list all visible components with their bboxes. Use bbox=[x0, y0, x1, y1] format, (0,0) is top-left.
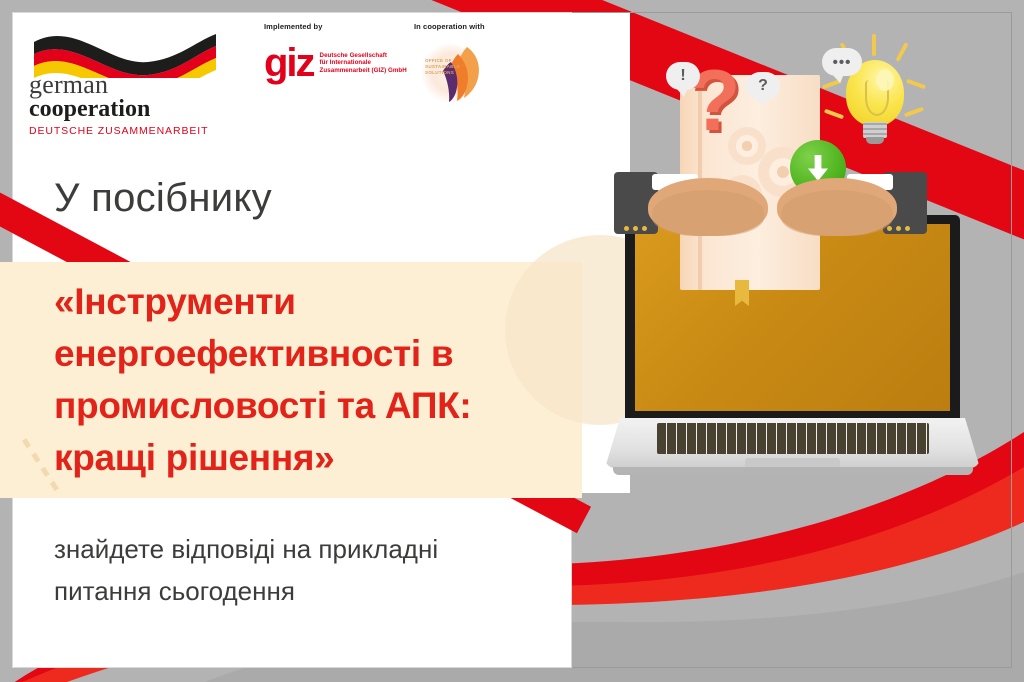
giz-logo: Implemented by giz Deutsche Gesellschaft… bbox=[264, 22, 414, 102]
german-cooperation-logo: german cooperation DEUTSCHE ZUSAMMENARBE… bbox=[24, 26, 224, 130]
german-cooperation-wordmark: german cooperation DEUTSCHE ZUSAMMENARBE… bbox=[29, 72, 229, 137]
laptop-foot bbox=[613, 467, 973, 475]
bulb-screw-base bbox=[863, 122, 887, 138]
giz-fullname: Deutsche Gesellschaft für Internationale… bbox=[320, 52, 407, 75]
exclaim-bubble: ! bbox=[666, 62, 700, 90]
bulb-ray bbox=[824, 109, 844, 120]
subline-text: знайдете відповіді на прикладні питання … bbox=[54, 528, 574, 612]
in-cooperation-with-caption: In cooperation with bbox=[414, 22, 544, 31]
kicker-text: У посібнику bbox=[54, 176, 272, 221]
exclaim-bubble-text: ! bbox=[666, 62, 700, 90]
bulb-ray bbox=[906, 79, 926, 90]
giz-wordmark: giz bbox=[264, 46, 314, 80]
giz-lockup: giz Deutsche Gesellschaft für Internatio… bbox=[264, 46, 407, 80]
laptop-book-hands-illustration: ? ! ? ••• bbox=[560, 0, 1024, 560]
logo-row: german cooperation DEUTSCHE ZUSAMMENARBE… bbox=[24, 22, 554, 130]
question-bubble: ? bbox=[746, 72, 780, 100]
subline-line-2: питання сьогодення bbox=[54, 570, 574, 612]
bulb-ray bbox=[904, 107, 924, 118]
headline-line-1: «Інструменти bbox=[54, 276, 554, 328]
oss-logo: In cooperation with OFFICE OF SUSTAINABL… bbox=[414, 22, 544, 112]
logo-line-deutsche-zusammenarbeit: DEUTSCHE ZUSAMMENARBEIT bbox=[29, 125, 229, 137]
oss-wordmark: OFFICE OF SUSTAINABLE SOLUTIONS bbox=[425, 58, 460, 76]
bulb-highlight bbox=[876, 69, 894, 91]
question-bubble-text: ? bbox=[746, 72, 780, 100]
right-cuff-buttons bbox=[887, 226, 910, 231]
giz-fullname-line1: Deutsche Gesellschaft bbox=[320, 52, 407, 60]
headline-title: «Інструменти енергоефективності в промис… bbox=[54, 276, 554, 484]
bulb-ray bbox=[896, 42, 909, 62]
laptop-keyboard bbox=[657, 423, 929, 454]
banner-stage: german cooperation DEUTSCHE ZUSAMMENARBE… bbox=[0, 0, 1024, 682]
subline-line-1: знайдете відповіді на прикладні bbox=[54, 528, 574, 570]
oss-line3: SOLUTIONS bbox=[425, 70, 460, 76]
headline-line-2: енергоефективності в bbox=[54, 328, 554, 380]
implemented-by-caption: Implemented by bbox=[264, 22, 414, 31]
bulb-ray bbox=[872, 34, 876, 56]
left-cuff-buttons bbox=[624, 226, 647, 231]
ellipsis-bubble-text: ••• bbox=[822, 48, 862, 76]
headline-line-3: промисловості та АПК: bbox=[54, 380, 554, 432]
giz-fullname-line3: Zusammenarbeit (GIZ) GmbH bbox=[320, 67, 407, 75]
right-palm-shade bbox=[781, 190, 893, 236]
bulb-tip bbox=[866, 137, 884, 144]
right-hand bbox=[775, 138, 925, 258]
logo-line-german: german bbox=[29, 72, 229, 97]
oss-flame-icon: OFFICE OF SUSTAINABLE SOLUTIONS bbox=[420, 44, 498, 102]
ellipsis-bubble: ••• bbox=[822, 48, 862, 76]
headline-line-4: кращі рішення» bbox=[54, 432, 554, 484]
logo-line-cooperation: cooperation bbox=[29, 97, 229, 122]
left-palm-shade bbox=[652, 190, 764, 236]
giz-fullname-line2: für Internationale bbox=[320, 59, 407, 67]
